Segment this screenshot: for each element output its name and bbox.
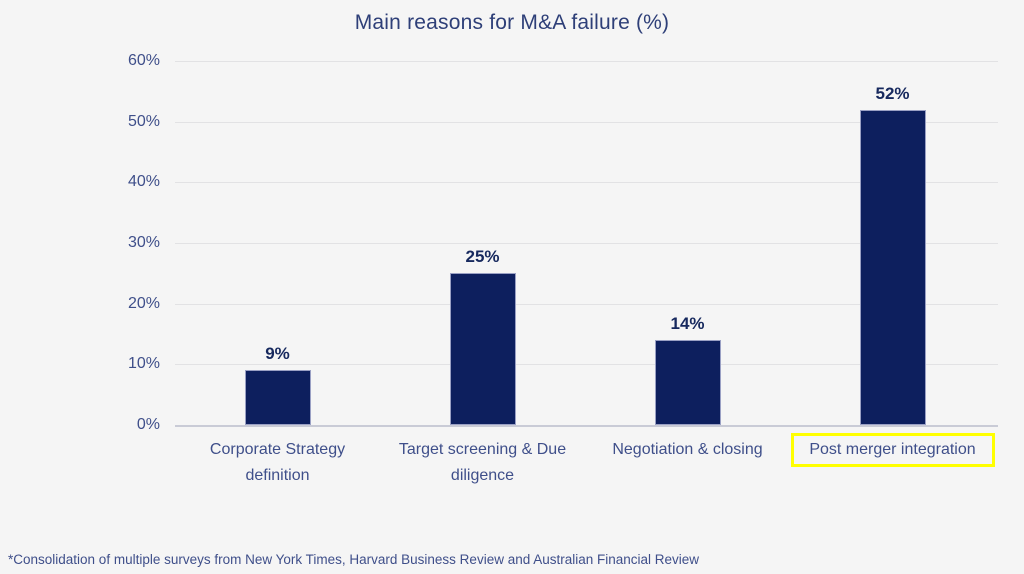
y-axis-tick-label: 60% [0, 52, 160, 70]
y-axis-tick-label: 10% [0, 355, 160, 373]
y-axis-tick-label: 40% [0, 173, 160, 191]
bar [450, 273, 516, 425]
bar-value-label: 52% [833, 84, 953, 104]
x-axis-category-label: Corporate Strategy definition [176, 437, 380, 489]
plot-area [175, 61, 998, 425]
bar [655, 340, 721, 425]
chart-title: Main reasons for M&A failure (%) [0, 11, 1024, 35]
bar-value-label: 14% [628, 314, 748, 334]
y-axis-tick-label: 20% [0, 295, 160, 313]
x-axis-category-label: Post merger integration [791, 433, 995, 467]
y-axis-labels: 60%50%40%30%20%10%0% [0, 61, 160, 425]
x-axis-category-label: Target screening & Due diligence [381, 437, 585, 489]
footnote: *Consolidation of multiple surveys from … [8, 552, 699, 567]
y-axis-tick-label: 50% [0, 113, 160, 131]
axis-baseline [175, 425, 998, 427]
y-axis-tick-label: 30% [0, 234, 160, 252]
bar [245, 370, 311, 425]
y-axis-tick-label: 0% [0, 416, 160, 434]
bar-value-label: 9% [218, 344, 338, 364]
bar-value-label: 25% [423, 247, 543, 267]
bar [860, 110, 926, 425]
x-axis-category-label: Negotiation & closing [586, 437, 790, 463]
gridline [175, 61, 998, 62]
bar-chart: Main reasons for M&A failure (%) 60%50%4… [0, 0, 1024, 574]
